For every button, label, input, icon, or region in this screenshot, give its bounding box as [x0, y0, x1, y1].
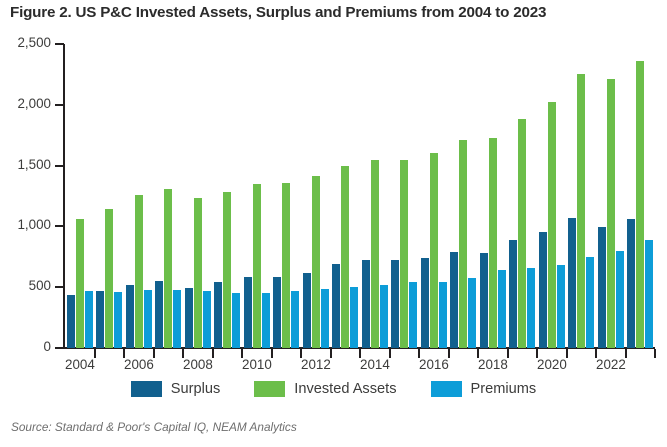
year-group-2013 [331, 44, 361, 348]
y-axis-tick-mark [55, 104, 64, 106]
bar-surplus[interactable] [450, 252, 458, 348]
bar-invested-assets[interactable] [105, 209, 113, 348]
year-group-2014 [360, 44, 390, 348]
bar-premiums[interactable] [380, 285, 388, 348]
legend-swatch-invested-assets [254, 381, 285, 397]
legend-label: Invested Assets [294, 381, 396, 397]
year-group-2021 [567, 44, 597, 348]
legend-label: Surplus [171, 381, 220, 397]
x-axis-label-2018: 2018 [478, 357, 508, 377]
y-axis-tick-label: 1,500 [3, 157, 51, 172]
bar-premiums[interactable] [557, 265, 565, 348]
bar-invested-assets[interactable] [489, 138, 497, 348]
y-axis-tick-label: 0 [3, 339, 51, 354]
y-axis-tick-label: 2,000 [3, 96, 51, 111]
legend-item-premiums[interactable]: Premiums [431, 381, 537, 397]
y-axis-tick-mark [55, 43, 64, 45]
year-group-2015 [390, 44, 420, 348]
legend-item-invested-assets[interactable]: Invested Assets [254, 381, 396, 397]
x-axis-label-empty [213, 357, 242, 377]
y-axis-tick-mark [55, 286, 64, 288]
bar-invested-assets[interactable] [312, 176, 320, 348]
year-group-2009 [213, 44, 243, 348]
x-axis-label-2022: 2022 [596, 357, 626, 377]
bar-surplus[interactable] [568, 218, 576, 348]
y-axis-labels: 2,5002,0001,5001,0005000 [0, 0, 51, 447]
bar-premiums[interactable] [321, 289, 329, 348]
bar-premiums[interactable] [203, 291, 211, 348]
bar-surplus[interactable] [96, 291, 104, 348]
x-axis-label-2016: 2016 [419, 357, 449, 377]
chart-legend: SurplusInvested AssetsPremiums [0, 381, 667, 397]
bar-invested-assets[interactable] [400, 160, 408, 348]
bar-surplus[interactable] [421, 258, 429, 348]
bar-surplus[interactable] [303, 273, 311, 348]
bar-surplus[interactable] [391, 260, 399, 348]
bar-premiums[interactable] [645, 240, 653, 348]
bar-premiums[interactable] [350, 287, 358, 348]
bar-invested-assets[interactable] [341, 166, 349, 348]
x-axis-label-empty [449, 357, 478, 377]
bar-surplus[interactable] [273, 277, 281, 348]
bar-invested-assets[interactable] [76, 219, 84, 349]
bar-invested-assets[interactable] [164, 189, 172, 348]
page-title: Figure 2. US P&C Invested Assets, Surplu… [10, 4, 660, 21]
bar-premiums[interactable] [468, 278, 476, 348]
x-axis-label-2014: 2014 [360, 357, 390, 377]
bar-invested-assets[interactable] [223, 192, 231, 348]
x-axis-tick-labels: 2004200620082010201220142016201820202022 [65, 357, 655, 377]
x-axis-label-empty [508, 357, 537, 377]
bar-invested-assets[interactable] [194, 198, 202, 348]
bar-surplus[interactable] [126, 285, 134, 348]
year-group-2005 [95, 44, 125, 348]
year-group-2018 [478, 44, 508, 348]
x-axis-label-2006: 2006 [124, 357, 154, 377]
year-group-2007 [154, 44, 184, 348]
year-group-2010 [242, 44, 272, 348]
bar-invested-assets[interactable] [518, 119, 526, 348]
legend-label: Premiums [471, 381, 537, 397]
year-group-2023 [626, 44, 656, 348]
figure-container: Figure 2. US P&C Invested Assets, Surplu… [0, 0, 667, 447]
y-axis-tick-mark [55, 347, 64, 349]
bar-surplus[interactable] [214, 282, 222, 348]
bar-premiums[interactable] [144, 290, 152, 348]
bar-invested-assets[interactable] [430, 153, 438, 348]
bar-premiums[interactable] [114, 292, 122, 348]
bar-premiums[interactable] [232, 293, 240, 348]
bar-invested-assets[interactable] [548, 102, 556, 348]
x-axis-label-empty [95, 357, 124, 377]
bar-premiums[interactable] [527, 268, 535, 348]
bar-surplus[interactable] [598, 227, 606, 348]
year-group-2012 [301, 44, 331, 348]
bar-premiums[interactable] [173, 290, 181, 348]
bar-surplus[interactable] [539, 232, 547, 348]
x-axis-label-empty [154, 357, 183, 377]
bars-plot-area [65, 44, 655, 348]
bar-premiums[interactable] [498, 270, 506, 348]
x-axis-label-2004: 2004 [65, 357, 95, 377]
bar-invested-assets[interactable] [577, 74, 585, 348]
x-axis-label-2020: 2020 [537, 357, 567, 377]
source-note: Source: Standard & Poor's Capital IQ, NE… [11, 420, 297, 434]
legend-swatch-surplus [131, 381, 162, 397]
year-group-2016 [419, 44, 449, 348]
year-group-2004 [65, 44, 95, 348]
bar-premiums[interactable] [409, 282, 417, 348]
y-axis-tick-mark [55, 225, 64, 227]
bar-surplus[interactable] [244, 277, 252, 348]
year-group-2020 [537, 44, 567, 348]
year-group-2006 [124, 44, 154, 348]
y-axis-tick-mark [55, 165, 64, 167]
bar-invested-assets[interactable] [253, 184, 261, 348]
bar-premiums[interactable] [586, 257, 594, 348]
bar-premiums[interactable] [616, 251, 624, 348]
x-axis-label-empty [626, 357, 655, 377]
bar-invested-assets[interactable] [371, 160, 379, 348]
legend-item-surplus[interactable]: Surplus [131, 381, 220, 397]
legend-swatch-premiums [431, 381, 462, 397]
year-group-2019 [508, 44, 538, 348]
bar-surplus[interactable] [362, 260, 370, 348]
y-axis-tick-label: 2,500 [3, 35, 51, 50]
x-axis-label-empty [567, 357, 596, 377]
bar-invested-assets[interactable] [636, 61, 644, 348]
bar-invested-assets[interactable] [135, 195, 143, 348]
x-axis-label-empty [390, 357, 419, 377]
bar-premiums[interactable] [439, 282, 447, 348]
bar-invested-assets[interactable] [459, 140, 467, 348]
x-axis-label-2012: 2012 [301, 357, 331, 377]
bar-premiums[interactable] [262, 293, 270, 348]
x-axis-label-empty [272, 357, 301, 377]
year-group-2022 [596, 44, 626, 348]
year-group-2008 [183, 44, 213, 348]
x-axis-label-2010: 2010 [242, 357, 272, 377]
year-group-2017 [449, 44, 479, 348]
bar-surplus[interactable] [509, 240, 517, 348]
bar-invested-assets[interactable] [282, 183, 290, 348]
bar-surplus[interactable] [155, 281, 163, 348]
bar-surplus[interactable] [627, 219, 635, 348]
bar-surplus[interactable] [185, 288, 193, 348]
year-group-2011 [272, 44, 302, 348]
y-axis-tick-label: 500 [3, 278, 51, 293]
bar-invested-assets[interactable] [607, 79, 615, 348]
y-axis-tick-label: 1,000 [3, 217, 51, 232]
x-axis-label-2008: 2008 [183, 357, 213, 377]
bar-surplus[interactable] [67, 295, 75, 348]
bar-surplus[interactable] [332, 264, 340, 349]
bar-surplus[interactable] [480, 253, 488, 348]
bar-premiums[interactable] [291, 291, 299, 348]
bar-premiums[interactable] [85, 291, 93, 348]
x-axis-label-empty [331, 357, 360, 377]
